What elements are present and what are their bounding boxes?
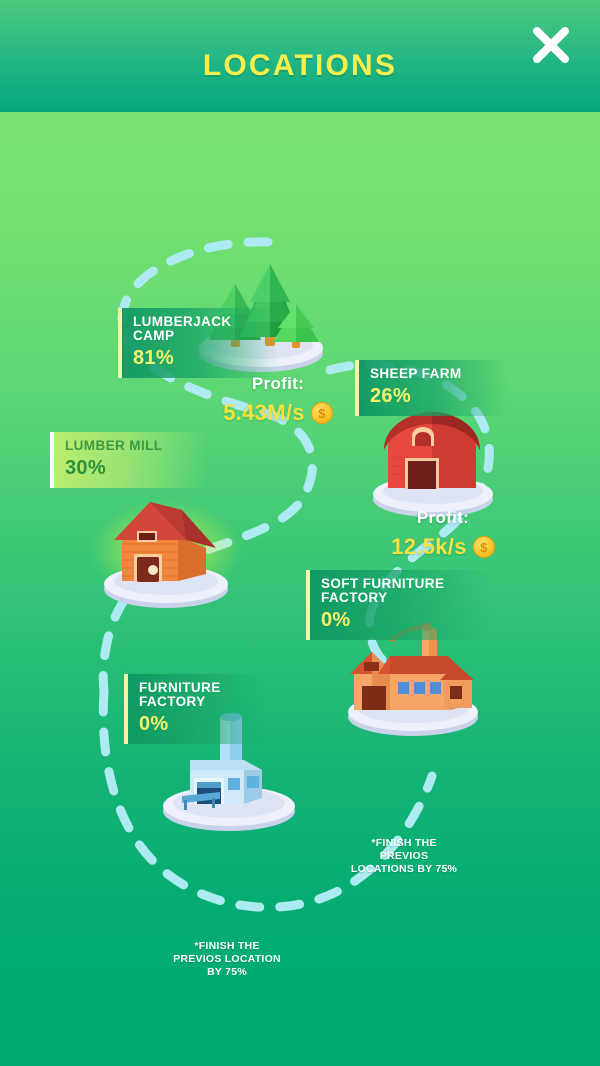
red-barn-icon[interactable]: [360, 400, 506, 518]
location-percent: 26%: [370, 386, 462, 407]
profit-sheep-farm: Profit: 12.5k/s $: [358, 508, 528, 560]
location-label-furniture-factory[interactable]: FURNITURE FACTORY 0%: [124, 674, 267, 744]
page-title: LOCATIONS: [0, 49, 600, 83]
profit-value: 12.5k/s: [391, 534, 467, 560]
profit-value: 5.43M/s: [223, 400, 305, 426]
location-name: LUMBERJACK CAMP: [133, 315, 232, 343]
header-bar: LOCATIONS: [0, 0, 600, 112]
location-percent: 81%: [133, 348, 232, 369]
log-cabin-icon[interactable]: [90, 488, 242, 608]
coin-icon: $: [473, 536, 495, 558]
close-icon[interactable]: [520, 14, 582, 76]
profit-label: Profit:: [358, 508, 528, 528]
location-name: FURNITURE FACTORY: [139, 681, 221, 709]
location-label-lumberjack-camp[interactable]: LUMBERJACK CAMP 81%: [118, 308, 278, 378]
lock-note-soft-furniture-factory: *FINISH THE PREVIOS LOCATIONS BY 75%: [318, 837, 490, 875]
location-percent: 30%: [65, 458, 162, 479]
lock-note-furniture-factory: *FINISH THE PREVIOS LOCATION BY 75%: [136, 940, 318, 978]
location-label-sheep-farm[interactable]: SHEEP FARM 26%: [355, 360, 508, 416]
profit-lumberjack-camp: Profit: 5.43M/s $: [193, 374, 363, 426]
location-percent: 0%: [321, 610, 444, 631]
location-label-lumber-mill[interactable]: LUMBER MILL 30%: [50, 432, 208, 488]
location-label-soft-furniture-factory[interactable]: SOFT FURNITURE FACTORY 0%: [306, 570, 490, 640]
location-name: SOFT FURNITURE FACTORY: [321, 577, 444, 605]
location-percent: 0%: [139, 714, 221, 735]
coin-icon: $: [311, 402, 333, 424]
location-name: SHEEP FARM: [370, 367, 462, 381]
locations-board: LUMBERJACK CAMP 81%: [0, 112, 600, 1066]
locations-screen: LOCATIONS LUMBERJACK CAMP: [0, 0, 600, 1066]
location-name: LUMBER MILL: [65, 439, 162, 453]
